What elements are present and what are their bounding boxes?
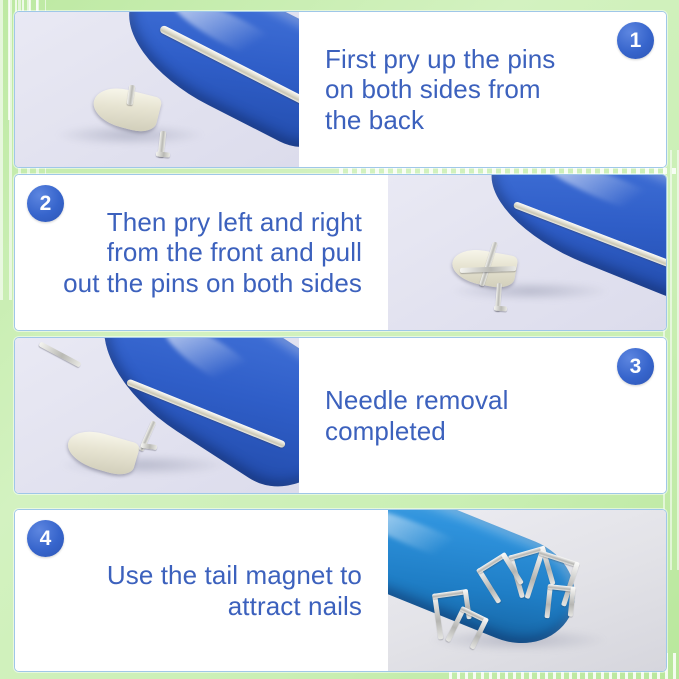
caption-line: out the pins on both sides [41,268,362,298]
caption-line: the back [325,105,640,135]
caption-line: First pry up the pins [325,44,640,74]
step-badge-1: 1 [617,22,654,59]
step-badge-4: 4 [27,520,64,557]
step-photo-1 [15,12,299,167]
caption-line: Then pry left and right [41,207,362,237]
step-badge-2: 2 [27,185,64,222]
step-text-3: 3 Needle removal completed [299,338,666,493]
step-panel-2: 2 Then pry left and right from the front… [14,174,667,331]
step-panel-1: 1 First pry up the pins on both sides fr… [14,11,667,168]
step-photo-2 [388,175,666,330]
step-panel-3: 3 Needle removal completed [14,337,667,494]
caption-line: completed [325,416,640,446]
caption-line: attract nails [41,591,362,621]
step-photo-3 [15,338,299,493]
caption-line: Use the tail magnet to [41,560,362,590]
step-text-2: 2 Then pry left and right from the front… [15,175,388,330]
caption-line: from the front and pull [41,237,362,267]
step-caption-3: Needle removal completed [299,385,666,446]
step-caption-1: First pry up the pins on both sides from… [299,44,666,135]
caption-line: Needle removal [325,385,640,415]
step-text-4: 4 Use the tail magnet to attract nails [15,510,388,671]
step-badge-3: 3 [617,348,654,385]
step-photo-4 [388,510,666,671]
step-text-1: 1 First pry up the pins on both sides fr… [299,12,666,167]
step-caption-4: Use the tail magnet to attract nails [15,560,388,621]
step-caption-2: Then pry left and right from the front a… [15,207,388,298]
step-panel-4: 4 Use the tail magnet to attract nails [14,509,667,672]
caption-line: on both sides from [325,74,640,104]
